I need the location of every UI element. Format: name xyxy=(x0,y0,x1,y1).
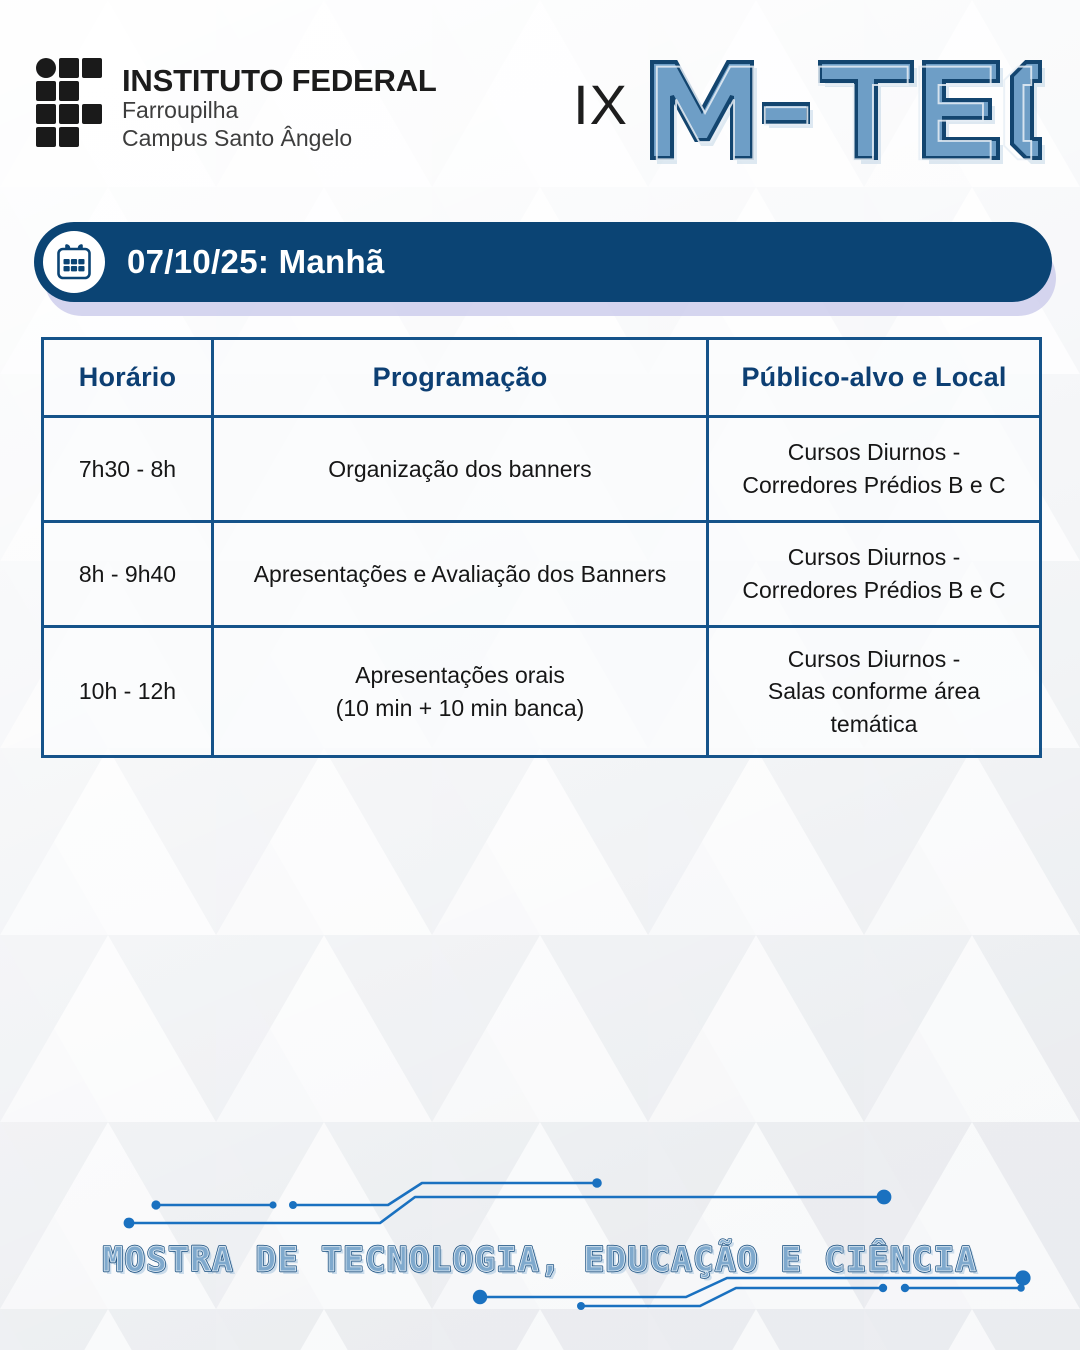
cell-time: 7h30 - 8h xyxy=(43,417,213,522)
cell-program: Organização dos banners xyxy=(213,417,708,522)
logo-cell xyxy=(36,81,56,101)
institution-logo: INSTITUTO FEDERAL Farroupilha Campus San… xyxy=(36,58,437,152)
cell-place-line: Corredores Prédios B e C xyxy=(742,472,1005,498)
institution-title: INSTITUTO FEDERAL xyxy=(122,64,437,97)
table-row: 7h30 - 8h Organização dos banners Cursos… xyxy=(43,417,1041,522)
cell-place-line: Cursos Diurnos - xyxy=(788,544,961,570)
cell-time: 10h - 12h xyxy=(43,627,213,757)
calendar-badge xyxy=(43,231,105,293)
cell-program-line: (10 min + 10 min banca) xyxy=(336,695,585,721)
page-header: INSTITUTO FEDERAL Farroupilha Campus San… xyxy=(0,0,1080,205)
mtec-wordmark-icon xyxy=(646,52,1046,164)
logo-cell-empty xyxy=(82,127,102,147)
column-header-time: Horário xyxy=(43,339,213,417)
circuit-trace-icon xyxy=(124,1178,892,1228)
table-row: 10h - 12h Apresentações orais (10 min + … xyxy=(43,627,1041,757)
cell-place-line: temática xyxy=(831,711,918,737)
cell-place-line: Cursos Diurnos - xyxy=(788,439,961,465)
table-header-row: Horário Programação Público-alvo e Local xyxy=(43,339,1041,417)
svg-text:MOSTRA DE TECNOLOGIA, EDUCAÇÃO: MOSTRA DE TECNOLOGIA, EDUCAÇÃO E CIÊNCIA xyxy=(103,1239,978,1280)
logo-cell xyxy=(59,58,79,78)
footer-tagline-group: MOSTRA DE TECNOLOGIA, EDUCAÇÃO E CIÊNCIA… xyxy=(103,1239,981,1283)
cell-program-line: Apresentações orais xyxy=(355,662,565,688)
cell-place: Cursos Diurnos - Corredores Prédios B e … xyxy=(708,417,1041,522)
institution-wordmark: INSTITUTO FEDERAL Farroupilha Campus San… xyxy=(122,58,437,152)
logo-cell xyxy=(36,104,56,124)
logo-cell xyxy=(59,81,79,101)
institution-unit: Farroupilha xyxy=(122,97,437,124)
cell-program: Apresentações orais (10 min + 10 min ban… xyxy=(213,627,708,757)
column-header-program: Programação xyxy=(213,339,708,417)
footer-graphic: MOSTRA DE TECNOLOGIA, EDUCAÇÃO E CIÊNCIA… xyxy=(0,1175,1080,1350)
cell-place-line: Cursos Diurnos - xyxy=(788,646,961,672)
event-edition-number: IX xyxy=(573,77,628,139)
if-grid-logo-icon xyxy=(36,58,106,146)
logo-cell xyxy=(36,58,56,78)
column-header-audience-place: Público-alvo e Local xyxy=(708,339,1041,417)
table-row: 8h - 9h40 Apresentações e Avaliação dos … xyxy=(43,522,1041,627)
page-footer: MOSTRA DE TECNOLOGIA, EDUCAÇÃO E CIÊNCIA… xyxy=(0,1175,1080,1350)
calendar-icon xyxy=(54,242,94,282)
logo-cell xyxy=(59,104,79,124)
cell-program-line: Apresentações e Avaliação dos Banners xyxy=(254,561,667,587)
logo-cell xyxy=(59,127,79,147)
cell-place: Cursos Diurnos - Salas conforme área tem… xyxy=(708,627,1041,757)
cell-program-line: Organização dos banners xyxy=(328,456,591,482)
logo-cell xyxy=(82,58,102,78)
cell-program: Apresentações e Avaliação dos Banners xyxy=(213,522,708,627)
cell-place-line: Corredores Prédios B e C xyxy=(742,577,1005,603)
event-logo: IX xyxy=(573,52,1046,164)
cell-place: Cursos Diurnos - Corredores Prédios B e … xyxy=(708,522,1041,627)
date-banner-zone: 07/10/25: Manhã xyxy=(0,222,1080,318)
date-banner: 07/10/25: Manhã xyxy=(34,222,1052,302)
logo-cell xyxy=(36,127,56,147)
institution-campus: Campus Santo Ângelo xyxy=(122,125,437,152)
cell-place-line: Salas conforme área xyxy=(768,678,980,704)
logo-cell xyxy=(82,104,102,124)
cell-time: 8h - 9h40 xyxy=(43,522,213,627)
date-banner-label: 07/10/25: Manhã xyxy=(127,243,385,281)
logo-cell-empty xyxy=(82,81,102,101)
schedule-table: Horário Programação Público-alvo e Local… xyxy=(41,337,1042,758)
